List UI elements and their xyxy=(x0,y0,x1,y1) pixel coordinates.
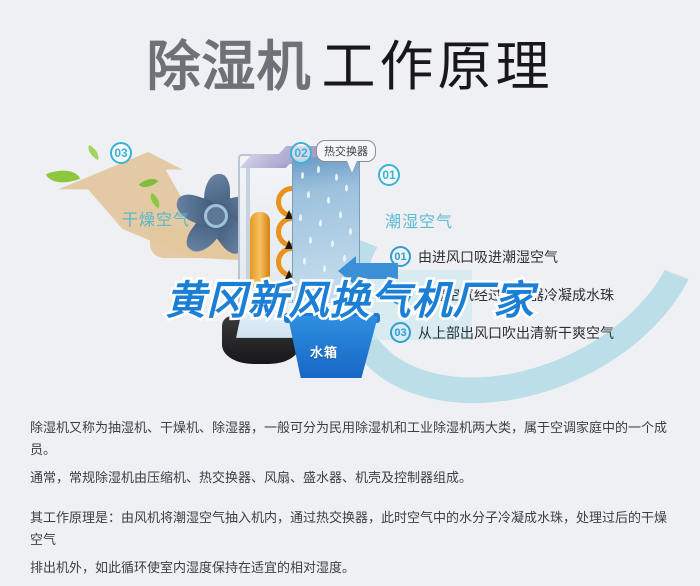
infographic-page: 除湿机工作原理 xyxy=(0,0,700,566)
page-title: 除湿机工作原理 xyxy=(0,22,700,101)
paragraph-2-line-1: 其工作原理是：由风机将潮湿空气抽入机内，通过热交换器，此时空气中的水分子冷凝成水… xyxy=(30,508,675,552)
callout-heat-exchanger: 热交换器 xyxy=(316,140,376,162)
label-humid-air: 潮湿空气 xyxy=(385,208,453,232)
label-dry-air: 干燥空气 xyxy=(122,206,190,230)
body-copy: 除湿机又称为抽湿机、干燥机、除湿器，一般可分为民用除湿机和工业除湿机两大类，属于… xyxy=(30,418,675,586)
leaf-icon xyxy=(85,145,102,160)
badge-02-heat-exchanger: 02 xyxy=(290,142,312,164)
step-text: 由进风口吸进潮湿空气 xyxy=(418,247,558,267)
watermark-text: 黄冈新风换气机厂家 xyxy=(0,268,700,326)
badge-03-dry-air: 03 xyxy=(110,142,132,164)
badge-01-humid-air: 01 xyxy=(378,164,400,186)
title-part-working-principle: 工作原理 xyxy=(322,35,554,98)
paragraph-1-line-2: 通常，常规除湿机由压缩机、热交换器、风扇、盛水器、机壳及控制器组成。 xyxy=(30,468,675,490)
paragraph-2-line-2: 排出机外，如此循环使室内湿度保持在适宜的相对湿度。 xyxy=(30,558,675,580)
title-part-dehumidifier: 除湿机 xyxy=(147,35,312,98)
paragraph-1-line-1: 除湿机又称为抽湿机、干燥机、除湿器，一般可分为民用除湿机和工业除湿机两大类，属于… xyxy=(30,418,675,462)
list-item: 01 由进风口吸进潮湿空气 xyxy=(390,246,690,267)
step-number: 01 xyxy=(390,246,411,267)
water-tank-label: 水箱 xyxy=(310,342,338,361)
